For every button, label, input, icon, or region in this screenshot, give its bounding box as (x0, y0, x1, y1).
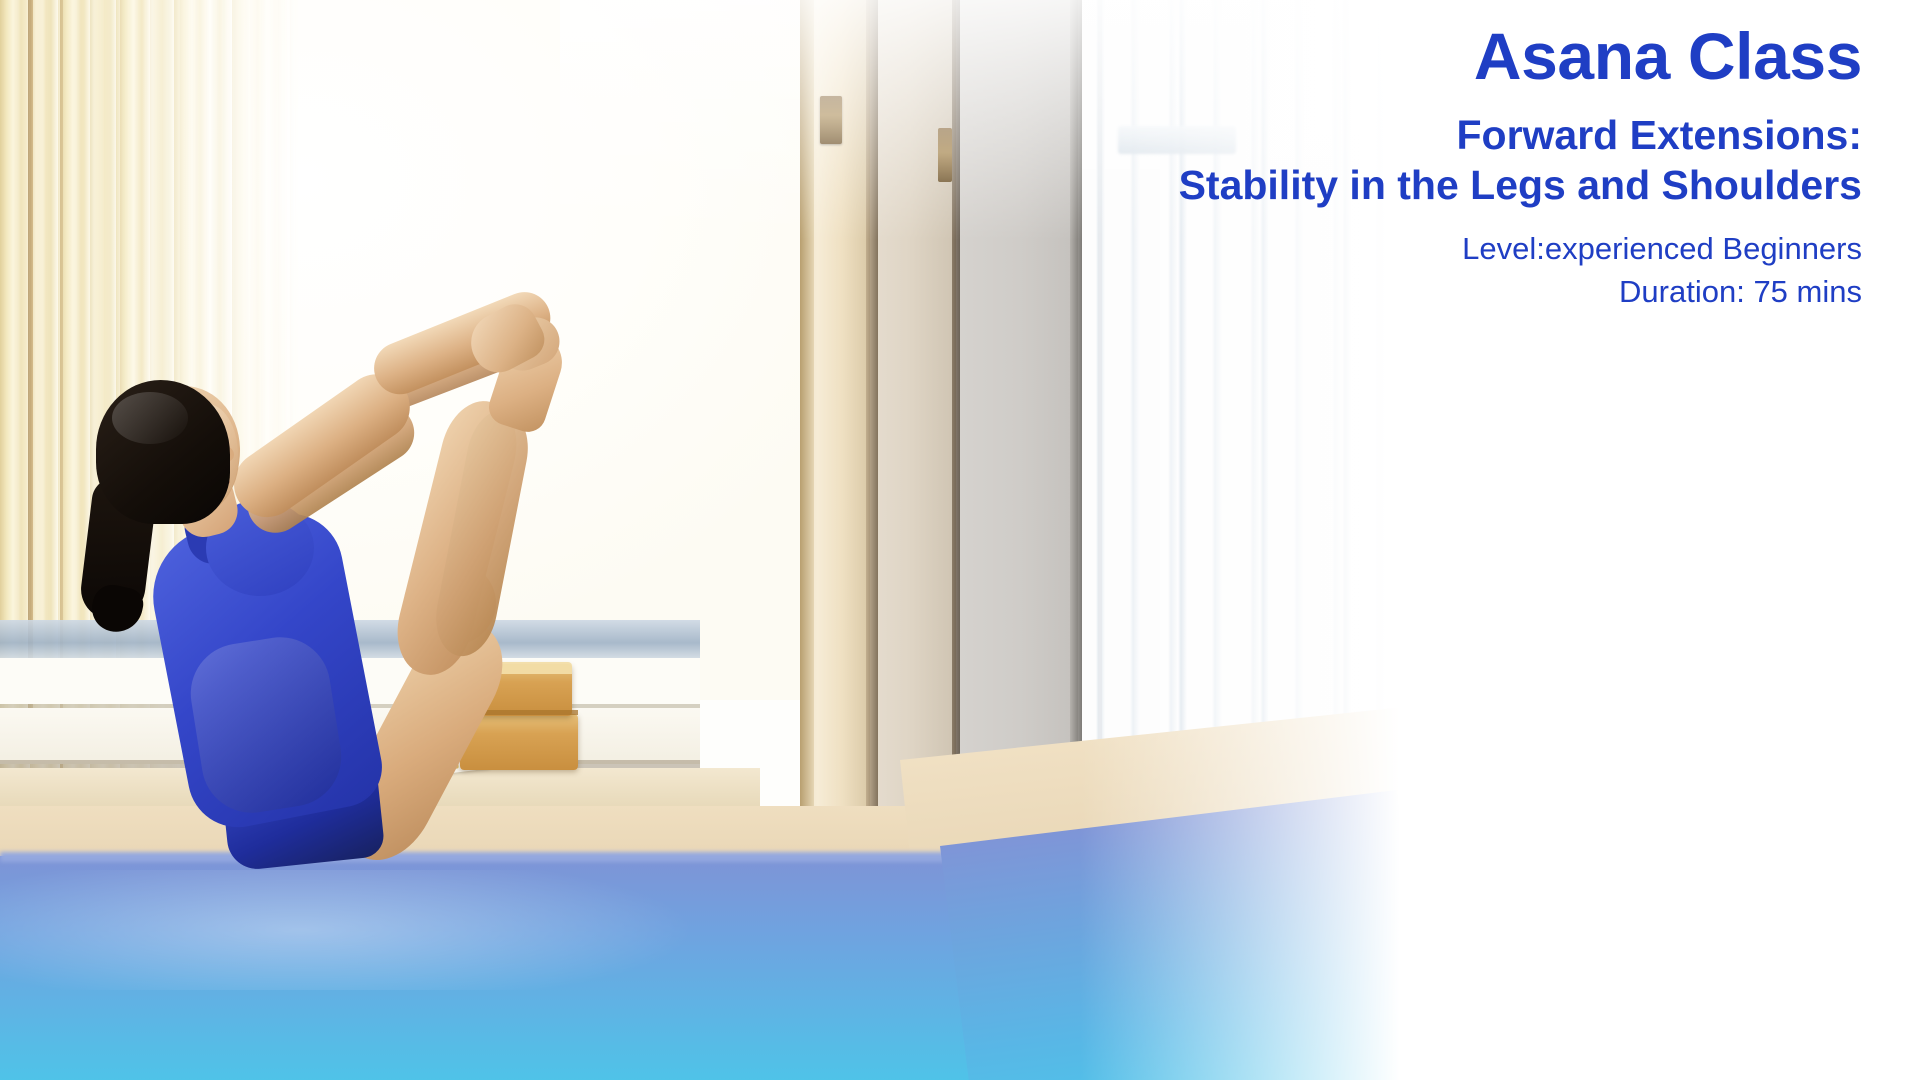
door-hinge-icon (820, 96, 842, 144)
class-subtitle-line1: Forward Extensions: (882, 110, 1862, 160)
door-frame-inner-edge (800, 0, 814, 820)
class-meta: Level:experienced Beginners Duration: 75… (882, 228, 1862, 314)
yoga-practitioner (0, 0, 700, 1080)
figure-hair-sheen (112, 392, 188, 444)
class-subtitle: Forward Extensions: Stability in the Leg… (882, 110, 1862, 210)
slide-canvas: Asana Class Forward Extensions: Stabilit… (0, 0, 1920, 1080)
class-info-block: Asana Class Forward Extensions: Stabilit… (882, 22, 1862, 314)
class-subtitle-line2: Stability in the Legs and Shoulders (882, 160, 1862, 210)
door-frame-shadow (866, 0, 878, 830)
page-title: Asana Class (882, 22, 1862, 92)
class-level: Level:experienced Beginners (882, 228, 1862, 271)
class-duration: Duration: 75 mins (882, 271, 1862, 314)
